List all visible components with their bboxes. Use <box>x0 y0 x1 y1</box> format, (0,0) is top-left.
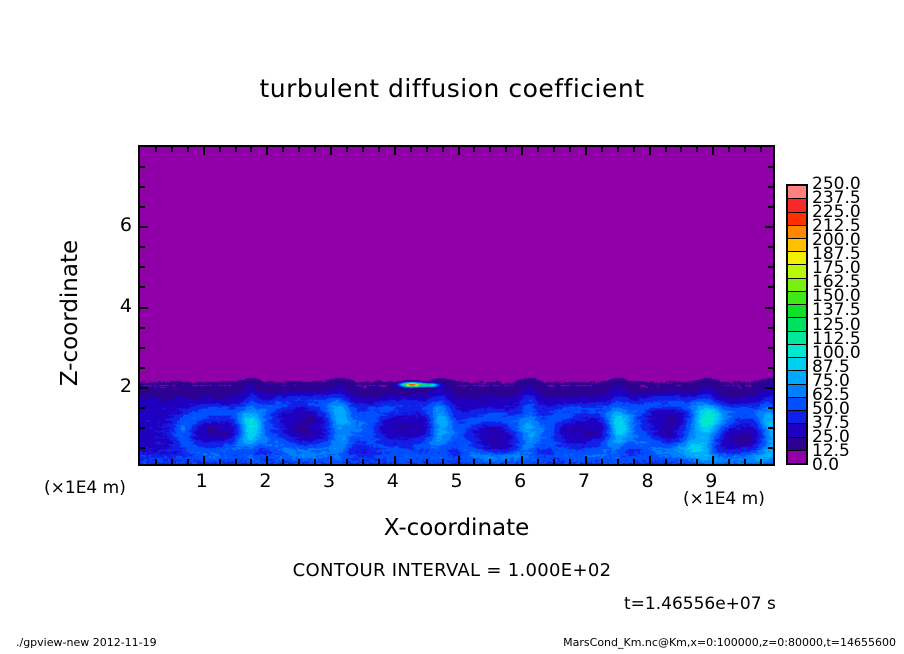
x-axis-tick-top <box>282 147 284 152</box>
x-axis-tick-top <box>410 147 412 152</box>
x-axis-tick <box>537 459 539 464</box>
x-axis-tick <box>680 459 682 464</box>
x-axis-tick <box>649 456 651 464</box>
y-axis-tick-right <box>768 407 773 409</box>
y-axis-tick-label: 6 <box>92 214 132 236</box>
x-axis-tick-label: 6 <box>500 470 540 492</box>
x-axis-tick <box>442 459 444 464</box>
contour-plot-area[interactable] <box>138 145 775 466</box>
y-axis-tick <box>140 226 148 228</box>
x-axis-tick-top <box>744 147 746 152</box>
x-axis-tick <box>362 459 364 464</box>
y-axis-unit-left: (×1E4 m) <box>44 478 126 498</box>
x-axis-tick-top <box>712 147 714 155</box>
colorbar-band <box>788 239 806 252</box>
footer-command-label: ./gpview-new 2012-11-19 <box>16 636 157 649</box>
x-axis-tick-label: 7 <box>564 470 604 492</box>
x-axis-tick <box>633 459 635 464</box>
y-axis-tick-right <box>768 427 773 429</box>
x-axis-tick-top <box>617 147 619 152</box>
x-axis-tick <box>250 459 252 464</box>
x-axis-tick <box>585 456 587 464</box>
time-stamp-label: t=1.46556e+07 s <box>624 594 776 614</box>
x-axis-tick <box>744 459 746 464</box>
x-axis-tick-label: 2 <box>245 470 285 492</box>
x-axis-tick-top <box>250 147 252 152</box>
y-axis-tick-right <box>768 206 773 208</box>
x-axis-tick-top <box>314 147 316 152</box>
y-axis-tick <box>140 286 145 288</box>
y-axis-tick-right <box>768 166 773 168</box>
x-axis-tick-top <box>298 147 300 152</box>
x-axis-tick-top <box>155 147 157 152</box>
y-axis-tick <box>140 367 145 369</box>
x-axis-tick <box>617 459 619 464</box>
x-axis-tick-top <box>665 147 667 152</box>
x-axis-tick-top <box>203 147 205 155</box>
colorbar-band <box>788 398 806 411</box>
y-axis-tick-right <box>768 286 773 288</box>
x-axis-tick-top <box>633 147 635 152</box>
y-axis-tick <box>140 186 145 188</box>
x-axis-tick <box>473 459 475 464</box>
x-axis-tick <box>410 459 412 464</box>
x-axis-tick-top <box>473 147 475 152</box>
x-axis-tick-label: 5 <box>437 470 477 492</box>
x-axis-tick <box>521 456 523 464</box>
colorbar-band <box>788 385 806 398</box>
x-axis-tick-label: 1 <box>182 470 222 492</box>
x-axis-tick <box>553 459 555 464</box>
colorbar-band <box>788 318 806 331</box>
x-axis-tick <box>266 456 268 464</box>
y-axis-tick-right <box>768 447 773 449</box>
x-axis-tick <box>394 456 396 464</box>
x-axis-tick <box>171 459 173 464</box>
colorbar-band <box>788 252 806 265</box>
x-axis-tick <box>314 459 316 464</box>
x-axis-tick <box>298 459 300 464</box>
turbulence-field-render <box>140 147 773 464</box>
x-axis-tick-top <box>346 147 348 152</box>
x-axis-tick <box>665 459 667 464</box>
y-axis-tick-right <box>768 327 773 329</box>
x-axis-tick <box>505 459 507 464</box>
x-axis-tick <box>489 459 491 464</box>
colorbar-band <box>788 292 806 305</box>
x-axis-tick <box>728 459 730 464</box>
x-axis-tick-top <box>696 147 698 152</box>
x-axis-tick-top <box>521 147 523 155</box>
footer-source-label: MarsCond_Km.nc@Km,x=0:100000,z=0:80000,t… <box>563 636 896 649</box>
colorbar-band <box>788 345 806 358</box>
x-axis-tick-top <box>649 147 651 155</box>
y-axis-tick-right <box>768 347 773 349</box>
colorbar-band <box>788 358 806 371</box>
x-axis-tick-top <box>378 147 380 152</box>
y-axis-tick <box>140 307 148 309</box>
x-axis-tick <box>155 459 157 464</box>
y-axis-tick-right <box>765 307 773 309</box>
x-axis-tick-top <box>426 147 428 152</box>
y-axis-tick-right <box>768 246 773 248</box>
x-axis-tick <box>426 459 428 464</box>
y-axis-tick <box>140 387 148 389</box>
y-axis-tick <box>140 327 145 329</box>
x-axis-tick <box>219 459 221 464</box>
colorbar-band <box>788 438 806 451</box>
x-axis-tick-top <box>760 147 762 152</box>
contour-interval-label: CONTOUR INTERVAL = 1.000E+02 <box>0 560 904 581</box>
x-axis-tick <box>760 459 762 464</box>
colorbar-band <box>788 332 806 345</box>
colorbar-tick-labels: 250.0237.5225.0212.5200.0187.5175.0162.5… <box>812 182 902 472</box>
x-axis-tick <box>601 459 603 464</box>
y-axis-tick-right <box>768 367 773 369</box>
x-axis-tick <box>346 459 348 464</box>
y-axis-title: Z-coordinate <box>57 183 83 443</box>
x-axis-tick <box>696 459 698 464</box>
y-axis-tick <box>140 447 145 449</box>
x-axis-tick-top <box>266 147 268 155</box>
colorbar-band <box>788 305 806 318</box>
y-axis-tick <box>140 407 145 409</box>
y-axis-tick-right <box>765 387 773 389</box>
x-axis-tick-top <box>362 147 364 152</box>
x-axis-tick-top <box>601 147 603 152</box>
x-axis-tick <box>378 459 380 464</box>
x-axis-tick-top <box>537 147 539 152</box>
colorbar-band <box>788 186 806 199</box>
x-axis-tick-top <box>235 147 237 152</box>
x-axis-tick-top <box>489 147 491 152</box>
colorbar-band <box>788 451 806 463</box>
x-axis-tick-top <box>728 147 730 152</box>
x-axis-tick-label: 8 <box>628 470 668 492</box>
y-axis-tick-right <box>765 226 773 228</box>
colorbar-band <box>788 265 806 278</box>
y-axis-tick <box>140 266 145 268</box>
x-axis-unit-right: (×1E4 m) <box>683 489 765 509</box>
y-axis-tick-label: 4 <box>92 295 132 317</box>
y-axis-tick-label: 2 <box>92 375 132 397</box>
y-axis-tick <box>140 206 145 208</box>
colorbar-band <box>788 411 806 424</box>
x-axis-tick <box>330 456 332 464</box>
colorbar-band <box>788 371 806 384</box>
x-axis-tick <box>187 459 189 464</box>
x-axis-tick-top <box>394 147 396 155</box>
x-axis-tick <box>203 456 205 464</box>
x-axis-tick-top <box>442 147 444 152</box>
colorbar-band <box>788 279 806 292</box>
y-axis-tick <box>140 166 145 168</box>
y-axis-tick <box>140 347 145 349</box>
y-axis-tick <box>140 246 145 248</box>
x-axis-tick <box>569 459 571 464</box>
x-axis-tick-top <box>569 147 571 152</box>
x-axis-tick <box>712 456 714 464</box>
x-axis-tick-top <box>171 147 173 152</box>
x-axis-tick-top <box>585 147 587 155</box>
x-axis-tick-top <box>505 147 507 152</box>
x-axis-tick-label: 4 <box>373 470 413 492</box>
colorbar[interactable] <box>786 184 808 465</box>
x-axis-tick <box>235 459 237 464</box>
x-axis-tick-top <box>330 147 332 155</box>
y-axis-tick-right <box>768 186 773 188</box>
colorbar-tick-label: 0.0 <box>812 457 839 474</box>
x-axis-tick-top <box>187 147 189 152</box>
page-title: turbulent diffusion coefficient <box>0 74 904 103</box>
colorbar-band <box>788 199 806 212</box>
x-axis-title: X-coordinate <box>138 515 775 541</box>
y-axis-tick <box>140 427 145 429</box>
x-axis-tick-top <box>553 147 555 152</box>
colorbar-band <box>788 424 806 437</box>
colorbar-band <box>788 226 806 239</box>
x-axis-tick-label: 3 <box>309 470 349 492</box>
x-axis-tick-top <box>219 147 221 152</box>
colorbar-band <box>788 213 806 226</box>
y-axis-tick-right <box>768 266 773 268</box>
x-axis-tick-top <box>458 147 460 155</box>
x-axis-tick <box>458 456 460 464</box>
x-axis-tick-top <box>680 147 682 152</box>
x-axis-tick <box>282 459 284 464</box>
